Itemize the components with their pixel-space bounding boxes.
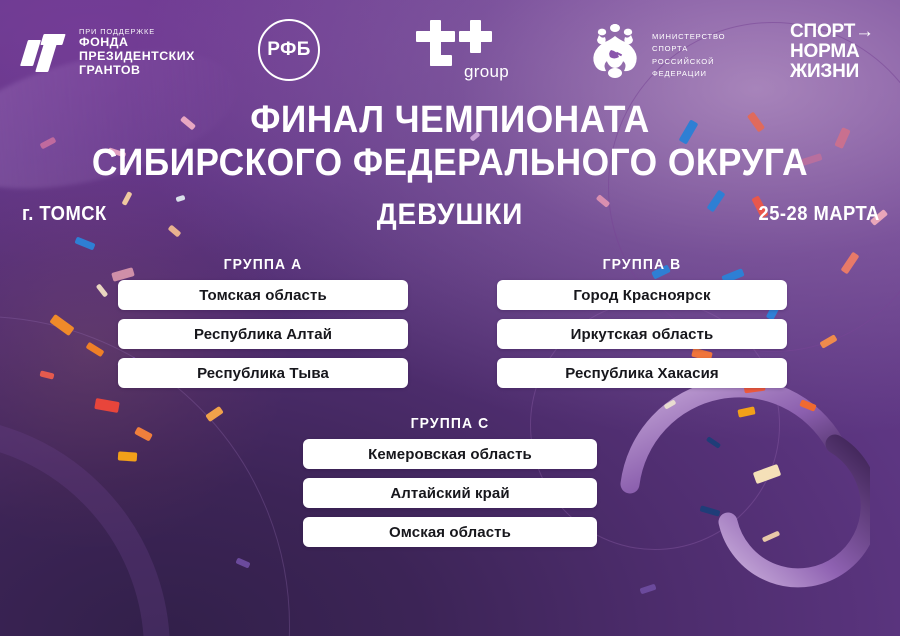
grants-line1: ПРИ ПОДДЕРЖКЕ <box>79 28 195 36</box>
tournament-poster: ПРИ ПОДДЕРЖКЕ ФОНДА ПРЕЗИДЕНТСКИХ ГРАНТО… <box>0 0 900 636</box>
decorative-thick-arc-bottom-left <box>0 416 170 636</box>
confetti-piece <box>74 237 95 251</box>
group-c-title: ГРУППА С <box>313 415 586 432</box>
minsport-line2: СПОРТА <box>652 43 725 55</box>
presidential-grants-fund-mark-icon <box>24 32 70 74</box>
team-item[interactable]: Республика Алтай <box>118 319 408 349</box>
headline-line-3: ДЕВУШКИ <box>32 198 869 232</box>
team-item[interactable]: Кемеровская область <box>303 439 597 469</box>
russian-double-headed-eagle-icon <box>588 22 642 82</box>
confetti-piece <box>39 370 54 379</box>
confetti-piece <box>49 314 74 336</box>
group-b: ГРУППА В Город Красноярск Иркутская обла… <box>497 256 787 397</box>
team-item[interactable]: Город Красноярск <box>497 280 787 310</box>
confetti-piece <box>235 557 250 568</box>
team-item[interactable]: Томская область <box>118 280 408 310</box>
group-b-title: ГРУППА В <box>507 256 777 273</box>
logo-sport-norma-zhizni: СПОРТ→ НОРМА ЖИЗНИ <box>790 22 874 82</box>
grants-line4: ГРАНТОВ <box>79 64 195 78</box>
group-a: ГРУППА А Томская область Республика Алта… <box>118 256 408 397</box>
grants-line2: ФОНДА <box>79 36 195 50</box>
confetti-piece <box>762 531 780 543</box>
grants-line3: ПРЕЗИДЕНТСКИХ <box>79 50 195 64</box>
confetti-piece <box>118 451 138 461</box>
confetti-piece <box>819 334 837 349</box>
team-item[interactable]: Республика Тыва <box>118 358 408 388</box>
confetti-piece <box>706 436 721 449</box>
group-a-title: ГРУППА А <box>128 256 398 273</box>
confetti-piece <box>700 505 721 516</box>
confetti-piece <box>753 464 782 484</box>
minsport-line4: ФЕДЕРАЦИИ <box>652 68 725 80</box>
confetti-piece <box>639 584 656 595</box>
logo-ministry-of-sport: МИНИСТЕРСТВО СПОРТА РОССИЙСКОЙ ФЕДЕРАЦИИ <box>588 22 725 82</box>
team-item[interactable]: Иркутская область <box>497 319 787 349</box>
rfb-circle-logo-icon: РФБ <box>258 19 320 81</box>
confetti-piece <box>96 283 109 297</box>
confetti-piece <box>737 406 755 417</box>
team-item[interactable]: Омская область <box>303 517 597 547</box>
minsport-line3: РОССИЙСКОЙ <box>652 56 725 68</box>
sport-norm-line3: ЖИЗНИ <box>790 62 874 82</box>
sport-norm-line2: НОРМА <box>790 42 874 62</box>
headline-line-1: ФИНАЛ ЧЕМПИОНАТА <box>32 100 869 141</box>
logo-t-plus-group: group <box>408 20 538 84</box>
rfb-label: РФБ <box>267 39 311 61</box>
logo-presidential-grants: ПРИ ПОДДЕРЖКЕ ФОНДА ПРЕЗИДЕНТСКИХ ГРАНТО… <box>24 28 195 78</box>
team-item[interactable]: Республика Хакасия <box>497 358 787 388</box>
sponsor-logo-bar: ПРИ ПОДДЕРЖКЕ ФОНДА ПРЕЗИДЕНТСКИХ ГРАНТО… <box>0 0 900 100</box>
sport-norm-line1: СПОРТ→ <box>790 22 874 42</box>
t-plus-group-word: group <box>464 62 509 82</box>
group-c: ГРУППА С Кемеровская область Алтайский к… <box>303 415 597 556</box>
confetti-piece <box>94 398 120 413</box>
confetti-piece <box>664 399 677 409</box>
confetti-piece <box>205 406 224 422</box>
confetti-piece <box>799 399 816 411</box>
confetti-piece <box>841 252 860 275</box>
team-item[interactable]: Алтайский край <box>303 478 597 508</box>
confetti-piece <box>86 342 105 357</box>
dates-label: 25-28 МАРТА <box>759 203 880 226</box>
minsport-line1: МИНИСТЕРСТВО <box>652 31 725 43</box>
confetti-piece <box>134 426 153 441</box>
headline-line-2: СИБИРСКОГО ФЕДЕРАЛЬНОГО ОКРУГА <box>32 143 869 184</box>
city-label: г. ТОМСК <box>22 203 107 226</box>
